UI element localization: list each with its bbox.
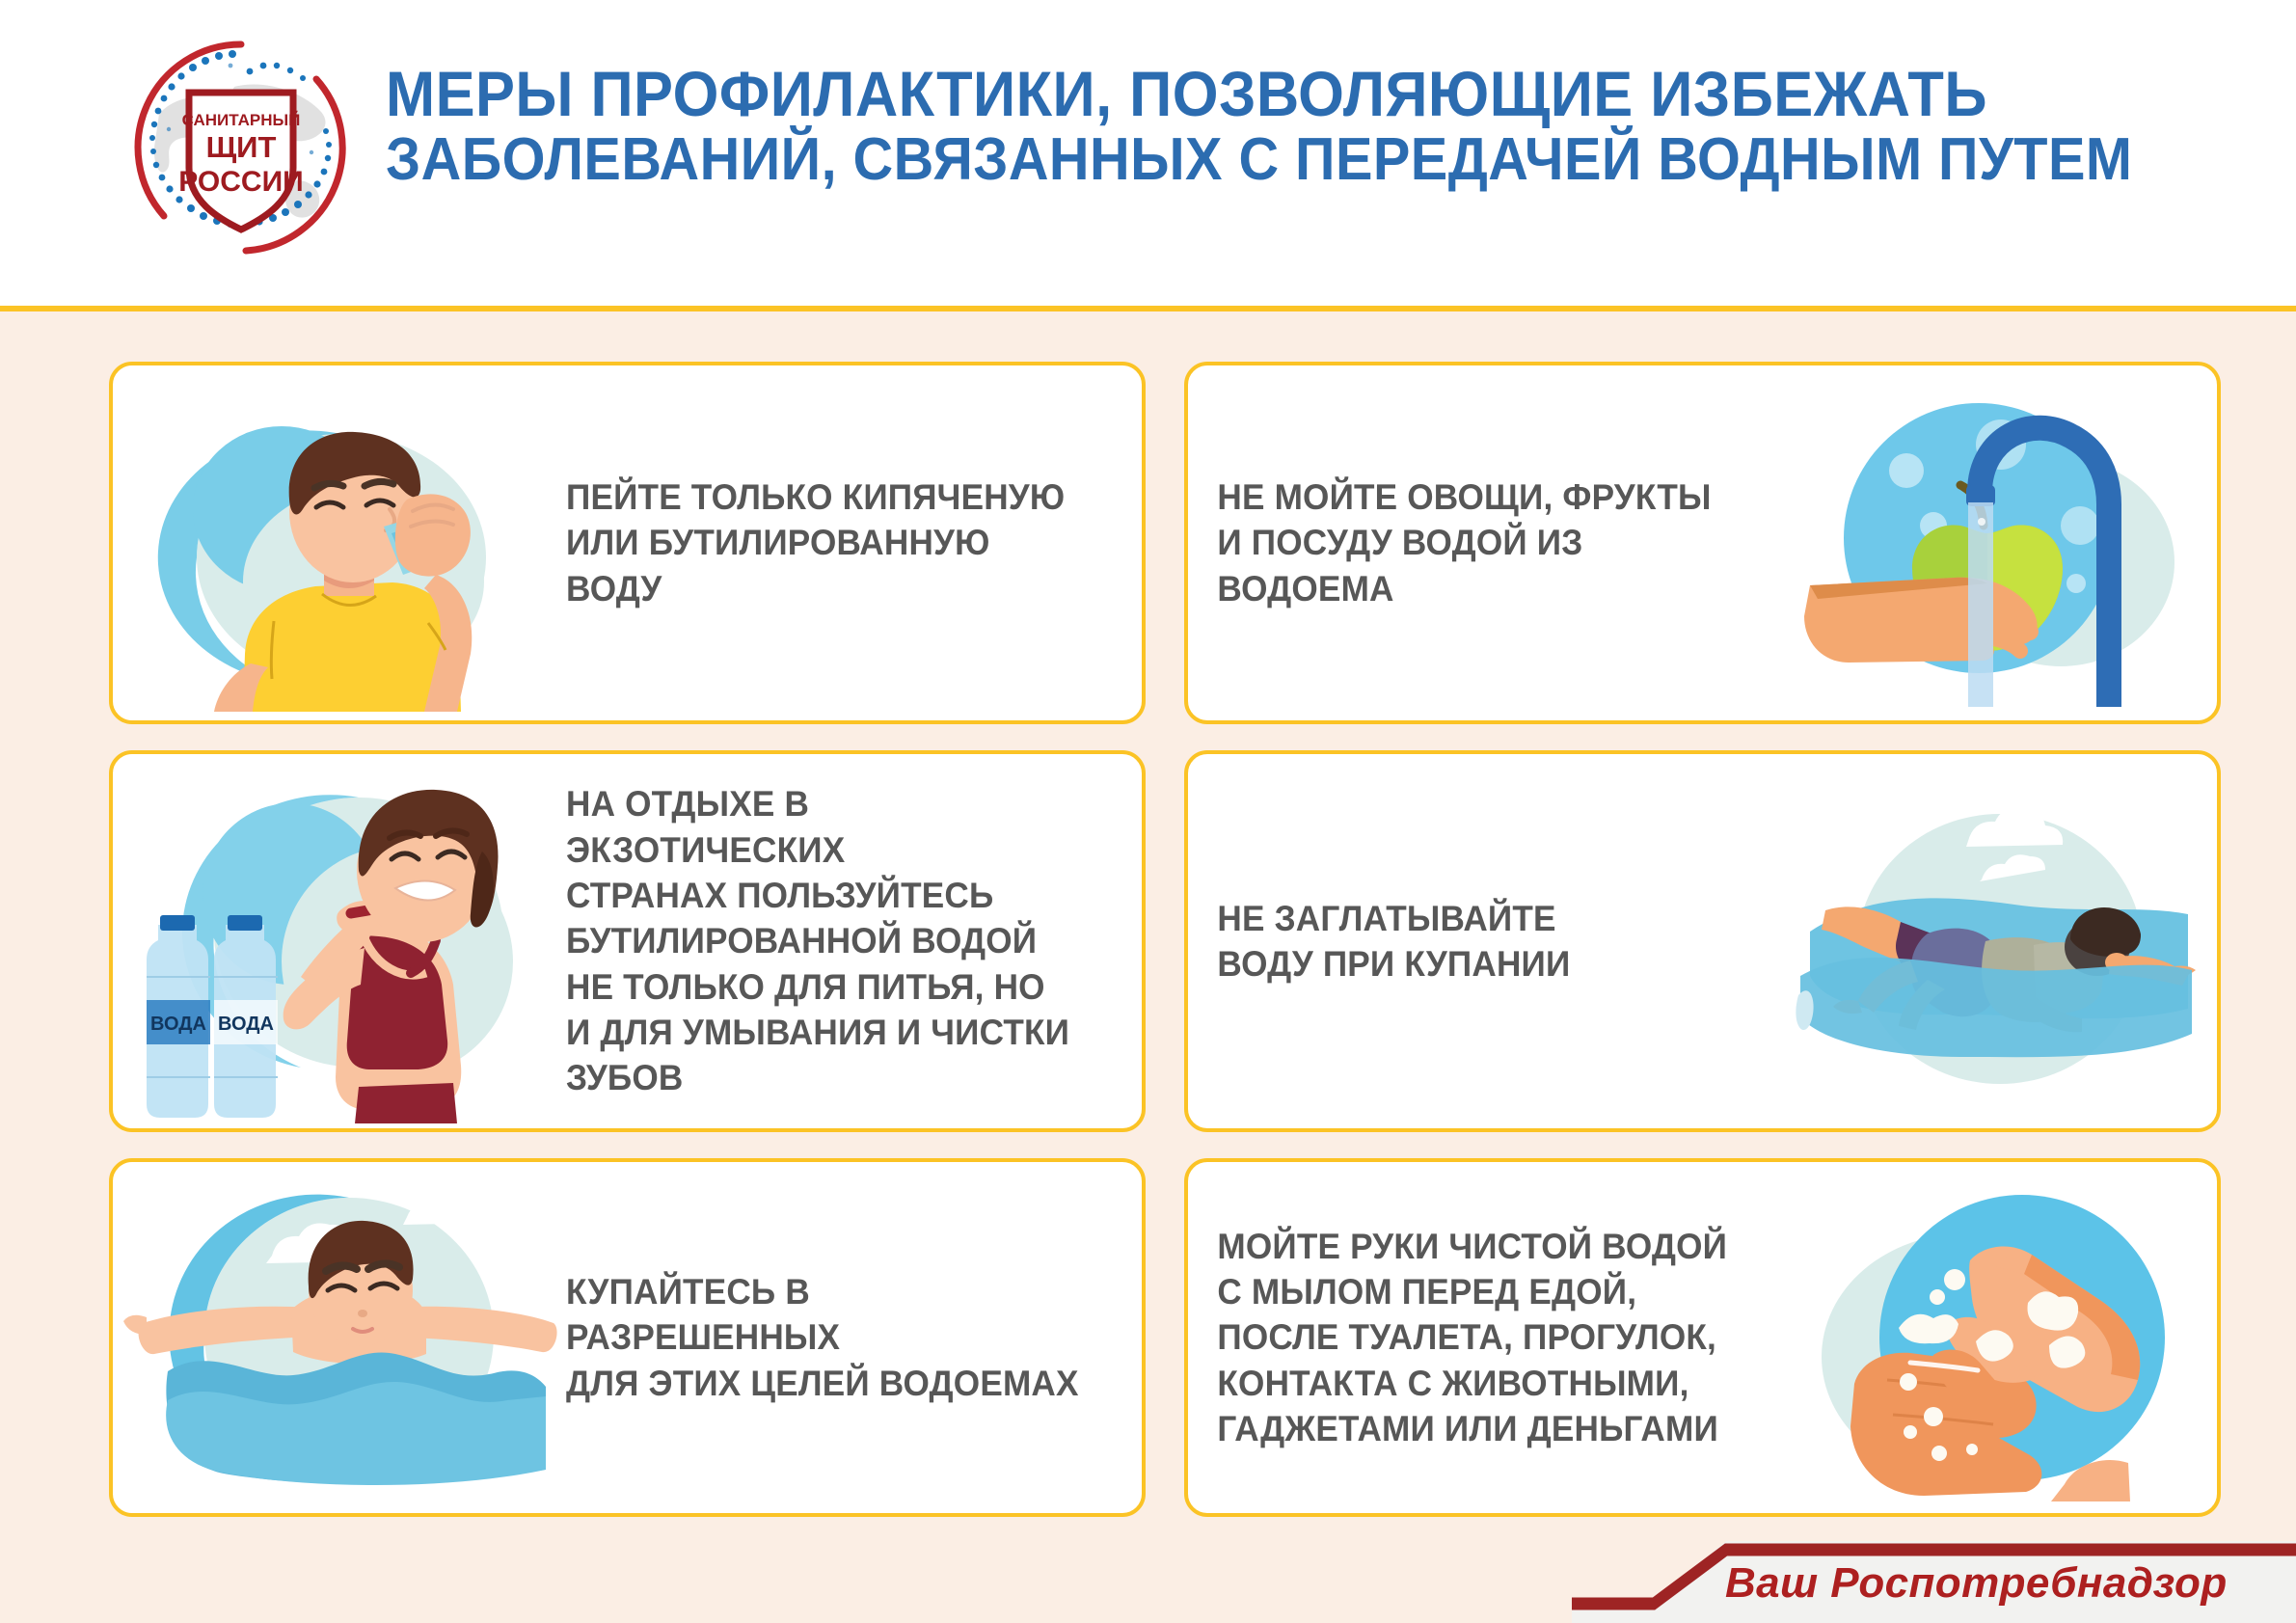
card-text-line: ГАДЖЕТАМИ ИЛИ ДЕНЬГАМИ: [1217, 1406, 1753, 1451]
card-dont-swallow-water[interactable]: НЕ ЗАГЛАТЫВАЙТЕ ВОДУ ПРИ КУПАНИИ: [1184, 750, 2221, 1132]
card-text-line: И ПОСУДУ ВОДОЙ ИЗ: [1217, 520, 1748, 565]
logo-line3: РОССИИ: [178, 166, 303, 198]
sanitary-shield-of-russia-logo: САНИТАРНЫЙ ЩИТ РОССИИ: [130, 37, 352, 258]
card-text-line: КУПАЙТЕСЬ В РАЗРЕШЕННЫХ: [566, 1269, 1089, 1361]
card-text-line: ПЕЙТЕ ТОЛЬКО КИПЯЧЕНУЮ: [566, 474, 1089, 520]
footer-brand-text: Ваш Роспотребнадзор: [1725, 1559, 2228, 1608]
card-text-line: ПОСЛЕ ТУАЛЕТА, ПРОГУЛОК,: [1217, 1314, 1753, 1360]
card-text-line: КОНТАКТА С ЖИВОТНЫМИ,: [1217, 1361, 1753, 1406]
card-text-line: НЕ МОЙТЕ ОВОЩИ, ФРУКТЫ: [1217, 474, 1748, 520]
logo-line1: САНИТАРНЫЙ: [182, 111, 301, 129]
card-text: ПЕЙТЕ ТОЛЬКО КИПЯЧЕНУЮ ИЛИ БУТИЛИРОВАННУ…: [566, 474, 1113, 611]
card-text-line: МОЙТЕ РУКИ ЧИСТОЙ ВОДОЙ: [1217, 1224, 1753, 1269]
title-line-1: МЕРЫ ПРОФИЛАКТИКИ, ПОЗВОЛЯЮЩИЕ ИЗБЕЖАТЬ: [386, 60, 2090, 128]
card-text-line: ИЛИ БУТИЛИРОВАННУЮ ВОДУ: [566, 520, 1089, 611]
title-line-2: ЗАБОЛЕВАНИЙ, СВЯЗАННЫХ С ПЕРЕДАЧЕЙ ВОДНЫ…: [386, 128, 2090, 193]
card-text: НА ОТДЫХЕ В ЭКЗОТИЧЕСКИХ СТРАНАХ ПОЛЬЗУЙ…: [566, 781, 1113, 1101]
card-text: НЕ ЗАГЛАТЫВАЙТЕ ВОДУ ПРИ КУПАНИИ: [1188, 896, 1753, 987]
freestyle-swimmer-illustration: [1783, 754, 2217, 1128]
man-drinking-water-illustration: [113, 365, 566, 720]
logo-line2: ЩИТ: [206, 130, 277, 164]
card-text-line: НЕ ТОЛЬКО ДЛЯ ПИТЬЯ, НО: [566, 964, 1089, 1010]
card-text-line: НА ОТДЫХЕ В ЭКЗОТИЧЕСКИХ: [566, 781, 1089, 873]
card-text: КУПАЙТЕСЬ В РАЗРЕШЕННЫХ ДЛЯ ЭТИХ ЦЕЛЕЙ В…: [566, 1269, 1113, 1406]
woman-brushing-teeth-illustration: ВОДА ВОДА: [113, 754, 566, 1128]
bottle-label: ВОДА: [218, 1014, 274, 1035]
card-text-line: И ДЛЯ УМЫВАНИЯ И ЧИСТКИ: [566, 1010, 1089, 1055]
apple-under-tap-illustration: [1778, 365, 2217, 720]
card-dont-wash-produce[interactable]: НЕ МОЙТЕ ОВОЩИ, ФРУКТЫ И ПОСУДУ ВОДОЙ ИЗ…: [1184, 362, 2221, 724]
card-wash-hands[interactable]: МОЙТЕ РУКИ ЧИСТОЙ ВОДОЙ С МЫЛОМ ПЕРЕД ЕД…: [1184, 1158, 2221, 1517]
washing-hands-with-soap-illustration: [1783, 1162, 2217, 1513]
card-text-line: ЗУБОВ: [566, 1055, 1089, 1100]
bottle-label: ВОДА: [150, 1014, 206, 1035]
card-drink-boiled-water[interactable]: ПЕЙТЕ ТОЛЬКО КИПЯЧЕНУЮ ИЛИ БУТИЛИРОВАННУ…: [109, 362, 1146, 724]
advice-board: ПЕЙТЕ ТОЛЬКО КИПЯЧЕНУЮ ИЛИ БУТИЛИРОВАННУ…: [0, 311, 2296, 1541]
card-text-line: ДЛЯ ЭТИХ ЦЕЛЕЙ ВОДОЕМАХ: [566, 1361, 1089, 1406]
header: САНИТАРНЫЙ ЩИТ РОССИИ МЕРЫ ПРОФИЛАКТИКИ,…: [0, 0, 2296, 306]
card-text-line: ВОДОЕМА: [1217, 566, 1748, 611]
card-text: НЕ МОЙТЕ ОВОЩИ, ФРУКТЫ И ПОСУДУ ВОДОЙ ИЗ…: [1188, 474, 1748, 611]
page-title: МЕРЫ ПРОФИЛАКТИКИ, ПОЗВОЛЯЮЩИЕ ИЗБЕЖАТЬ …: [386, 60, 2218, 193]
butterfly-swimmer-illustration: [113, 1162, 566, 1513]
advice-card-grid: ПЕЙТЕ ТОЛЬКО КИПЯЧЕНУЮ ИЛИ БУТИЛИРОВАННУ…: [109, 362, 2221, 1517]
card-bottled-water-abroad[interactable]: ВОДА ВОДА НА ОТДЫХЕ В ЭКЗОТИЧЕСКИХ СТРАН…: [109, 750, 1146, 1132]
footer-peach-block: [0, 1541, 1654, 1623]
card-text-line: СТРАНАХ ПОЛЬЗУЙТЕСЬ: [566, 873, 1089, 918]
card-swim-permitted-areas[interactable]: КУПАЙТЕСЬ В РАЗРЕШЕННЫХ ДЛЯ ЭТИХ ЦЕЛЕЙ В…: [109, 1158, 1146, 1517]
card-text-line: ВОДУ ПРИ КУПАНИИ: [1217, 941, 1753, 987]
card-text-line: НЕ ЗАГЛАТЫВАЙТЕ: [1217, 896, 1753, 941]
card-text-line: БУТИЛИРОВАННОЙ ВОДОЙ: [566, 918, 1089, 963]
card-text: МОЙТЕ РУКИ ЧИСТОЙ ВОДОЙ С МЫЛОМ ПЕРЕД ЕД…: [1188, 1224, 1753, 1452]
card-text-line: С МЫЛОМ ПЕРЕД ЕДОЙ,: [1217, 1269, 1753, 1314]
